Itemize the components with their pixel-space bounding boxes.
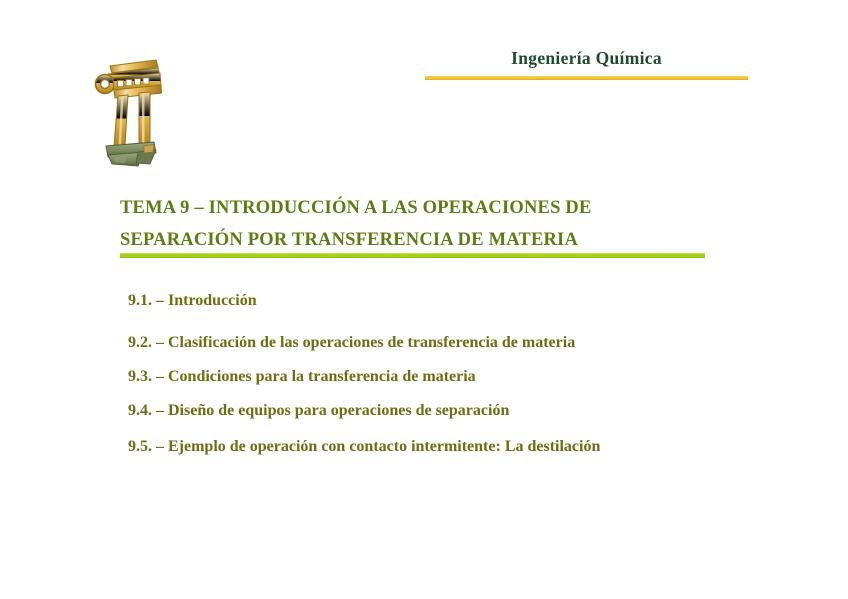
agenda-item-9-4: 9.4. – Diseño de equipos para operacione… — [128, 402, 808, 420]
agenda-item-9-3: 9.3. – Condiciones para la transferencia… — [128, 368, 808, 386]
department-title: Ingeniería Química — [425, 48, 748, 69]
title-divider-rule — [120, 253, 705, 258]
column-base — [106, 142, 156, 166]
slide-title: TEMA 9 – INTRODUCCIÓN A LAS OPERACIONES … — [120, 192, 720, 256]
slide-canvas: Ingeniería Química TEMA 9 – INTRODUCCIÓN… — [0, 0, 848, 599]
agenda-item-9-2: 9.2. – Clasificación de las operaciones … — [128, 334, 808, 352]
agenda-item-9-1: 9.1. – Introducción — [128, 292, 808, 310]
classical-column-emblem-icon — [94, 56, 162, 168]
slide-title-line-1: TEMA 9 – INTRODUCCIÓN A LAS OPERACIONES … — [120, 192, 720, 224]
slide-title-line-2: SEPARACIÓN POR TRANSFERENCIA DE MATERIA — [120, 224, 720, 256]
column-shafts — [114, 92, 150, 147]
agenda-list: 9.1. – Introducción 9.2. – Clasificación… — [128, 292, 808, 456]
agenda-item-9-5: 9.5. – Ejemplo de operación con contacto… — [128, 438, 808, 456]
column-capital — [96, 60, 162, 98]
header-divider-rule — [425, 76, 748, 80]
